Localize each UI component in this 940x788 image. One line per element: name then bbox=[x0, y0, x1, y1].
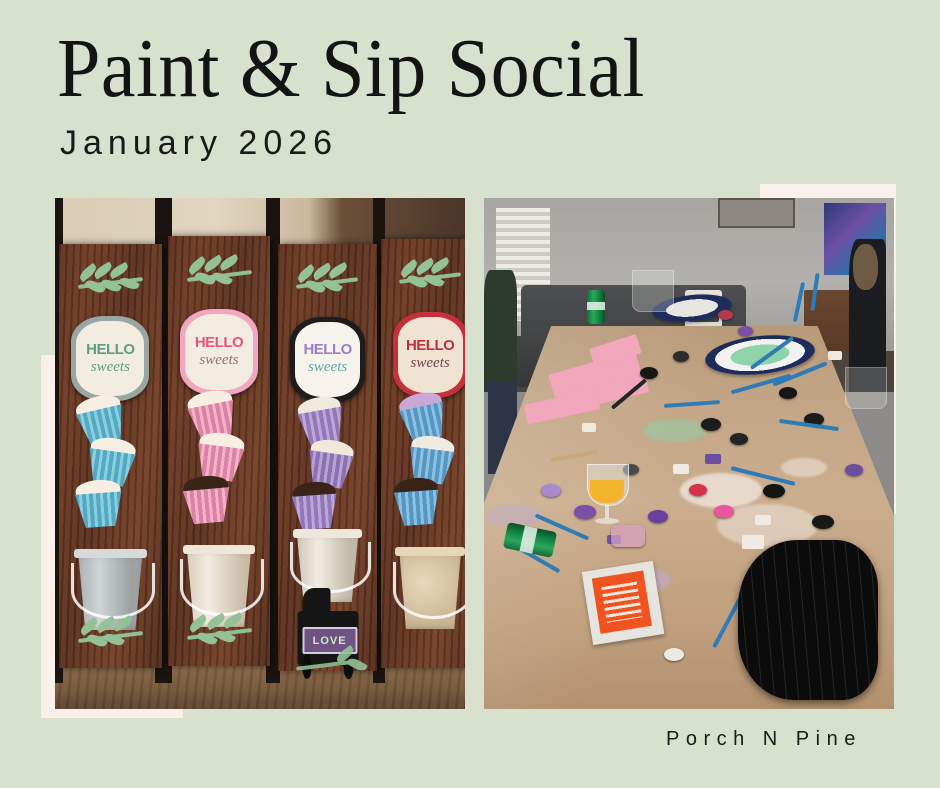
paint-pot bbox=[812, 515, 834, 529]
heart-icon bbox=[65, 457, 80, 471]
plaque-line-1: HELLO bbox=[86, 342, 134, 357]
plaque-line-1: HELLO bbox=[303, 342, 351, 357]
photo-wooden-sign-boards: HELLO sweets bbox=[55, 198, 465, 709]
paint-block bbox=[673, 464, 689, 474]
leaf-sprig-icon bbox=[292, 265, 363, 297]
paint-pot bbox=[640, 367, 658, 379]
leaf-sprig-icon bbox=[73, 265, 147, 297]
sign-board-3: HELLO sweets bbox=[278, 244, 376, 671]
bucket-4 bbox=[397, 552, 464, 629]
leaf-sprig-icon bbox=[73, 619, 147, 651]
leaf-sprig-icon bbox=[182, 258, 256, 290]
plaque-line-2: sweets bbox=[91, 359, 130, 376]
paint-block bbox=[755, 515, 771, 525]
paint-block bbox=[705, 454, 721, 464]
plaque-line-1: HELLO bbox=[195, 335, 243, 350]
leaf-sprig-icon bbox=[395, 260, 465, 292]
wine-glass bbox=[587, 464, 627, 526]
photo-craft-table bbox=[484, 198, 894, 709]
cupcake-stack-2 bbox=[172, 404, 266, 546]
paint-pot bbox=[738, 326, 753, 336]
supply-packet bbox=[581, 561, 664, 645]
paint-pot bbox=[664, 648, 684, 661]
hello-sweets-plaque-2: HELLO sweets bbox=[180, 309, 258, 395]
sign-board-4: HELLO sweets bbox=[381, 239, 465, 668]
heart-icon bbox=[232, 409, 247, 423]
paint-block bbox=[828, 351, 842, 360]
sign-board-1: HELLO sweets bbox=[59, 244, 162, 668]
leaf-sprig-icon bbox=[182, 616, 256, 648]
hello-sweets-plaque-4: HELLO sweets bbox=[393, 312, 465, 398]
cupcake-stack-4 bbox=[385, 406, 465, 548]
page-subtitle: January 2026 bbox=[60, 126, 338, 160]
soda-can-sprite bbox=[587, 290, 605, 324]
paint-block bbox=[582, 423, 596, 432]
leaf-sprig-icon bbox=[292, 647, 363, 679]
paint-pot bbox=[648, 510, 668, 523]
sign-board-2: HELLO sweets bbox=[168, 236, 271, 665]
paint-pot bbox=[701, 418, 721, 431]
paint-pot bbox=[714, 505, 734, 518]
plastic-cup bbox=[845, 367, 885, 429]
water-cup bbox=[611, 525, 645, 547]
paint-pot bbox=[845, 464, 863, 476]
heart-icon bbox=[342, 419, 357, 433]
heart-icon bbox=[445, 412, 460, 426]
hello-sweets-plaque-1: HELLO sweets bbox=[71, 316, 149, 401]
plaque-line-2: sweets bbox=[308, 359, 347, 376]
plaque-line-2: sweets bbox=[199, 352, 238, 369]
plaque-line-1: HELLO bbox=[406, 338, 454, 353]
page-title: Paint & Sip Social bbox=[57, 27, 645, 111]
paint-pot bbox=[673, 351, 689, 362]
hello-sweets-plaque-3: HELLO sweets bbox=[290, 317, 365, 402]
cupcake-stack-1 bbox=[63, 409, 157, 549]
paint-pot bbox=[730, 433, 748, 445]
brand-footer: Porch N Pine bbox=[666, 729, 862, 749]
black-garment bbox=[738, 540, 878, 700]
plastic-cup bbox=[632, 270, 672, 332]
poster-canvas: Paint & Sip Social January 2026 bbox=[0, 0, 940, 788]
plaque-line-2: sweets bbox=[411, 355, 450, 372]
paint-pot bbox=[763, 484, 785, 498]
love-sign-label: LOVE bbox=[313, 635, 347, 647]
paint-block bbox=[742, 535, 764, 549]
